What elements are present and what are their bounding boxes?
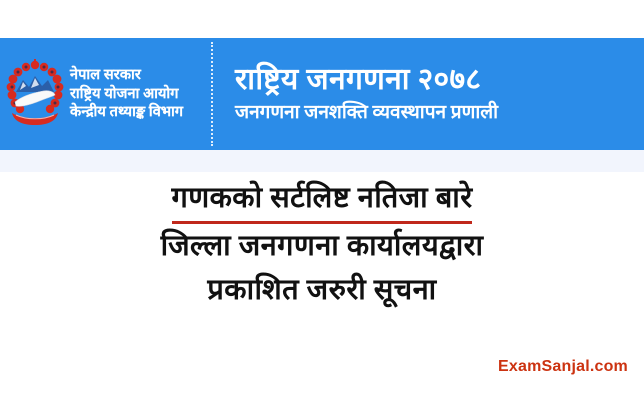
red-underline-rule bbox=[172, 221, 473, 224]
top-white-strip bbox=[0, 0, 644, 38]
banner-left-identity: नेपाल सरकार राष्ट्रिय योजना आयोग केन्द्र… bbox=[0, 38, 211, 150]
government-identity-lines: नेपाल सरकार राष्ट्रिय योजना आयोग केन्द्र… bbox=[70, 66, 183, 123]
notice-line-1: गणकको सर्टलिष्ट नतिजा बारे bbox=[172, 176, 473, 220]
gov-line-3: केन्द्रीय तथ्याङ्क विभाग bbox=[70, 103, 183, 122]
notice-line-2: जिल्ला जनगणना कार्यालयद्वारा bbox=[0, 224, 644, 268]
notice-line-3: प्रकाशित जरुरी सूचना bbox=[0, 268, 644, 312]
notice-line-1-underlined: गणकको सर्टलिष्ट नतिजा बारे bbox=[172, 176, 473, 224]
nepal-government-emblem-icon bbox=[6, 58, 64, 130]
gov-line-1: नेपाल सरकार bbox=[70, 66, 183, 85]
banner-titles: राष्ट्रिय जनगणना २०७८ जनगणना जनशक्ति व्य… bbox=[211, 63, 644, 125]
banner-title: राष्ट्रिय जनगणना २०७८ bbox=[235, 63, 644, 98]
site-watermark: ExamSanjal.com bbox=[498, 358, 628, 376]
pale-separator-band bbox=[0, 150, 644, 172]
header-banner: नेपाल सरकार राष्ट्रिय योजना आयोग केन्द्र… bbox=[0, 38, 644, 150]
banner-subtitle: जनगणना जनशक्ति व्यवस्थापन प्रणाली bbox=[235, 101, 644, 125]
banner-dotted-divider bbox=[211, 42, 213, 146]
gov-line-2: राष्ट्रिय योजना आयोग bbox=[70, 85, 183, 104]
notice-content: गणकको सर्टलिष्ट नतिजा बारे जिल्ला जनगणना… bbox=[0, 172, 644, 312]
